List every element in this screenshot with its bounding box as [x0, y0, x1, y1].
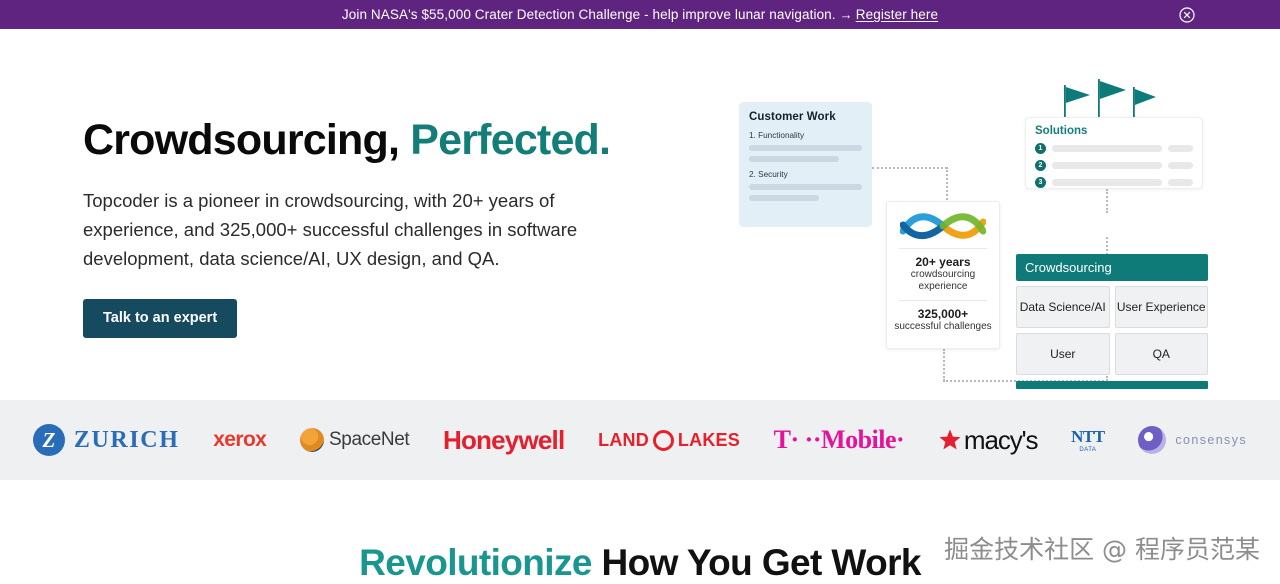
connector-dotted-vertical-top: [946, 167, 948, 203]
logo-macys: macy's: [938, 417, 1037, 463]
banner-message: Join NASA's $55,000 Crater Detection Cha…: [342, 7, 938, 22]
spacenet-globe-icon: [300, 428, 324, 452]
zurich-mark-icon: Z: [33, 424, 65, 456]
logo-ntt-text: NTT: [1071, 427, 1104, 447]
logo-t-mobile-text: · ··Mobile·: [791, 425, 905, 455]
connector-dotted-crowd: [1106, 237, 1108, 255]
stats-card: 20+ years crowdsourcing experience 325,0…: [886, 201, 1000, 349]
banner-register-link[interactable]: Register here: [856, 7, 938, 22]
hero-paragraph: Topcoder is a pioneer in crowdsourcing, …: [83, 186, 628, 274]
logo-spacenet-text: SpaceNet: [329, 429, 409, 451]
hero-illustration: Customer Work 1. Functionality 2. Securi…: [700, 59, 1240, 399]
connector-dotted-solutions: [1106, 189, 1108, 213]
talk-to-an-expert-button[interactable]: Talk to an expert: [83, 299, 237, 338]
page-title: Crowdsourcing, Perfected.: [83, 118, 643, 164]
logo-ntt-sub: DATA: [1079, 447, 1096, 453]
solutions-card: Solutions 1 2 3: [1025, 117, 1203, 189]
crowdsourcing-tile-qa[interactable]: QA: [1115, 333, 1209, 375]
logo-land-o-lakes-text-left: LAND: [598, 430, 649, 451]
logo-t-mobile: T · ··Mobile·: [774, 417, 905, 463]
crowdsourcing-tile-user-experience[interactable]: User Experience: [1115, 286, 1209, 328]
solutions-row: 2: [1035, 160, 1193, 171]
t-mobile-mark-icon: T: [774, 425, 791, 455]
divider: [899, 300, 987, 301]
section-heading-rest: How You Get Work: [592, 542, 921, 583]
logo-consensys-text: consensys: [1175, 433, 1247, 447]
headline-accent: Perfected.: [410, 116, 610, 164]
arrow-right-icon: →: [836, 7, 856, 22]
logo-macys-text: macy's: [964, 425, 1037, 456]
placeholder-bar: [749, 145, 862, 151]
placeholder-bar: [1052, 179, 1162, 186]
stat-years-label-line2: experience: [919, 281, 968, 292]
solutions-number: 1: [1035, 143, 1046, 154]
stat-years-label: crowdsourcing experience: [911, 269, 975, 293]
solutions-number: 2: [1035, 160, 1046, 171]
stat-years-value: 20+ years: [915, 255, 970, 269]
banner-message-text: Join NASA's $55,000 Crater Detection Cha…: [342, 7, 836, 22]
close-circle-icon[interactable]: [1179, 7, 1195, 23]
section-heading-accent: Revolutionize: [359, 542, 592, 583]
headline-main: Crowdsourcing,: [83, 116, 399, 164]
client-logo-band: Z ZURICH xerox SpaceNet Honeywell LAND L…: [0, 400, 1280, 480]
land-o-lakes-ring-icon: [653, 430, 674, 451]
crowdsourcing-tiles: Data Science/AI User Experience User QA: [1016, 286, 1208, 375]
watermark: 掘金技术社区 @ 程序员范某: [944, 530, 1260, 566]
placeholder-bar: [1168, 179, 1193, 186]
logo-ntt-data: NTT DATA: [1071, 417, 1104, 463]
divider: [899, 248, 987, 249]
crowdsourcing-tile-data-science[interactable]: Data Science/AI: [1016, 286, 1110, 328]
logo-land-o-lakes-text-right: LAKES: [678, 430, 740, 451]
stat-years-label-line1: crowdsourcing: [911, 269, 975, 280]
logo-xerox: xerox: [213, 417, 266, 463]
consensys-mark-icon: [1138, 426, 1166, 454]
placeholder-bar: [749, 195, 819, 201]
crowdsourcing-footer-bar: [1016, 381, 1208, 389]
customer-work-title: Customer Work: [749, 111, 862, 123]
placeholder-bar: [1052, 145, 1162, 152]
stat-challenges-label: successful challenges: [894, 321, 991, 333]
logo-zurich: Z ZURICH: [33, 417, 180, 463]
solutions-title: Solutions: [1035, 125, 1193, 137]
logo-zurich-text: ZURICH: [74, 427, 180, 454]
announcement-banner: Join NASA's $55,000 Crater Detection Cha…: [0, 0, 1280, 29]
logo-consensys: consensys: [1138, 417, 1247, 463]
crowdsourcing-panel: Crowdsourcing Data Science/AI User Exper…: [1016, 254, 1208, 406]
placeholder-bar: [749, 156, 839, 162]
customer-work-card: Customer Work 1. Functionality 2. Securi…: [739, 102, 872, 227]
placeholder-bar: [749, 184, 862, 190]
logo-honeywell-text: Honeywell: [443, 425, 564, 456]
placeholder-bar: [1052, 162, 1162, 169]
topcoder-swoosh-logo: [900, 211, 986, 241]
logo-land-o-lakes: LAND LAKES: [598, 417, 740, 463]
solutions-number: 3: [1035, 177, 1046, 188]
logo-xerox-text: xerox: [213, 428, 266, 452]
stat-challenges-value: 325,000+: [918, 307, 968, 321]
hero-section: Crowdsourcing, Perfected. Topcoder is a …: [0, 29, 1280, 400]
solutions-row: 3: [1035, 177, 1193, 188]
customer-work-item-2: 2. Security: [749, 170, 862, 179]
logo-spacenet: SpaceNet: [300, 417, 409, 463]
macys-star-icon: [938, 428, 962, 452]
flags-group: [1048, 79, 1158, 121]
connector-dotted-vertical-bottom: [943, 349, 945, 381]
customer-work-item-1: 1. Functionality: [749, 131, 862, 140]
placeholder-bar: [1168, 145, 1193, 152]
crowdsourcing-tile-user[interactable]: User: [1016, 333, 1110, 375]
connector-dotted-horizontal-top: [872, 167, 947, 169]
crowdsourcing-header: Crowdsourcing: [1016, 254, 1208, 281]
hero-copy: Crowdsourcing, Perfected. Topcoder is a …: [83, 118, 643, 338]
logo-honeywell: Honeywell: [443, 417, 564, 463]
placeholder-bar: [1168, 162, 1193, 169]
solutions-row: 1: [1035, 143, 1193, 154]
